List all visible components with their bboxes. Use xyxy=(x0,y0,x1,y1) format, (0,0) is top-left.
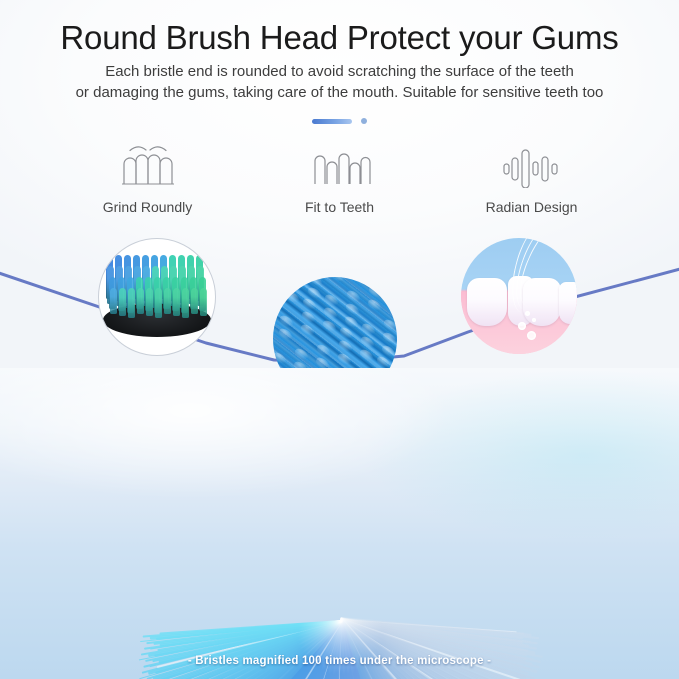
feature-row: Grind Roundly Fit to Teeth xyxy=(0,140,679,215)
bristle-tuft-group xyxy=(105,253,209,319)
tooth xyxy=(559,282,577,324)
rounded-bristle-tips-icon xyxy=(83,140,213,188)
page-title: Round Brush Head Protect your Gums xyxy=(0,18,679,58)
varied-height-bristles-icon xyxy=(275,140,405,188)
cleaning-bubble xyxy=(518,322,526,330)
cleaning-bubble xyxy=(532,318,536,322)
feature-fit-to-teeth: Fit to Teeth xyxy=(275,140,405,215)
cleaning-bubble xyxy=(525,311,530,316)
feature-radian-design: Radian Design xyxy=(467,140,597,215)
subtitle-line-1: Each bristle end is rounded to avoid scr… xyxy=(0,61,679,82)
footer-caption: - Bristles magnified 100 times under the… xyxy=(0,655,679,667)
slide-pagination[interactable] xyxy=(0,118,679,124)
subtitle-line-2: or damaging the gums, taking care of the… xyxy=(0,82,679,103)
magnified-bristle-fan-photo xyxy=(0,368,679,679)
radian-waveform-icon xyxy=(467,140,597,188)
brush-head-illustration xyxy=(98,241,216,353)
feature-grind-roundly: Grind Roundly xyxy=(83,140,213,215)
brush-head-macro-photo xyxy=(98,238,216,356)
tooth xyxy=(467,278,507,326)
pagination-dot[interactable] xyxy=(361,118,367,124)
pagination-active-bar[interactable] xyxy=(312,119,352,124)
teeth-and-gums-illustration xyxy=(461,238,577,354)
cleaning-bubble xyxy=(527,331,536,340)
product-infographic: Round Brush Head Protect your Gums Each … xyxy=(0,0,679,679)
